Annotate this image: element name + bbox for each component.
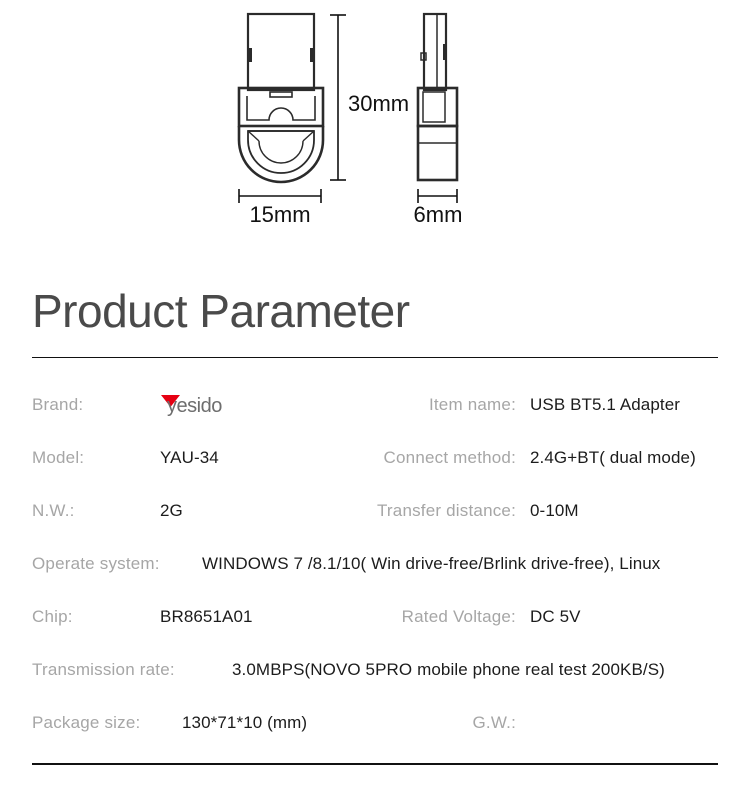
spec-value-package-size: 130*71*10 (mm) (182, 696, 307, 749)
table-row: Brand: yesido Item name: USB BT5.1 Adapt… (0, 378, 750, 431)
spec-label-text: Transmission rate: (32, 660, 175, 680)
spec-label-text: Connect method: (384, 448, 516, 468)
dimension-drawing-svg: 30mm 15mm 6mm (0, 0, 750, 240)
dimension-depth-6mm (418, 189, 457, 203)
spec-label-package-size: Package size: (32, 696, 140, 749)
dimension-width-label: 15mm (249, 202, 310, 227)
spec-value-item-name: USB BT5.1 Adapter (530, 378, 680, 431)
table-row: Chip: BR8651A01 Rated Voltage: DC 5V (0, 590, 750, 643)
table-row: Package size: 130*71*10 (mm) G.W.: (0, 696, 750, 749)
spec-value-chip: BR8651A01 (160, 590, 253, 643)
spec-label-text: Rated Voltage: (402, 607, 516, 627)
spec-label-text: Brand: (32, 395, 83, 415)
spec-label-gross-weight: G.W.: (473, 696, 517, 749)
dimension-depth-label: 6mm (414, 202, 463, 227)
spec-value-text: USB BT5.1 Adapter (530, 395, 680, 415)
page-title: Product Parameter (32, 286, 718, 337)
spec-label-text: G.W.: (473, 713, 517, 733)
product-dimension-drawing: 30mm 15mm 6mm (0, 0, 750, 240)
spec-value-text: DC 5V (530, 607, 581, 627)
spec-value-text: WINDOWS 7 /8.1/10( Win drive-free/Brlink… (202, 554, 660, 574)
spec-label-text: N.W.: (32, 501, 75, 521)
spec-label-text: Chip: (32, 607, 73, 627)
dimension-width-15mm (239, 189, 321, 203)
spec-value-rated-voltage: DC 5V (530, 590, 581, 643)
table-row: Operate system: WINDOWS 7 /8.1/10( Win d… (0, 537, 750, 590)
spec-label-brand: Brand: (32, 378, 83, 431)
spec-label-model: Model: (32, 431, 84, 484)
yesido-logo: yesido (160, 392, 264, 418)
spec-value-text: 2G (160, 501, 183, 521)
logo-wordmark: yesido (167, 395, 222, 417)
spec-label-connect-method: Connect method: (384, 431, 516, 484)
spec-label-transmission-rate: Transmission rate: (32, 643, 175, 696)
spec-label-net-weight: N.W.: (32, 484, 75, 537)
spec-label-text: Operate system: (32, 554, 160, 574)
spec-label-item-name: Item name: (429, 378, 516, 431)
spec-label-operate-system: Operate system: (32, 537, 160, 590)
usb-adapter-side-view (418, 14, 457, 180)
table-row: Model: YAU-34 Connect method: 2.4G+BT( d… (0, 431, 750, 484)
table-row: Transmission rate: 3.0MBPS(NOVO 5PRO mob… (0, 643, 750, 696)
spec-value-text: 0-10M (530, 501, 579, 521)
spec-value-transmission-rate: 3.0MBPS(NOVO 5PRO mobile phone real test… (232, 643, 665, 696)
spec-label-chip: Chip: (32, 590, 73, 643)
spec-label-text: Model: (32, 448, 84, 468)
spec-value-transfer-distance: 0-10M (530, 484, 579, 537)
spec-label-text: Transfer distance: (377, 501, 516, 521)
spec-value-text: 130*71*10 (mm) (182, 713, 307, 733)
spec-label-text: Item name: (429, 395, 516, 415)
spec-label-rated-voltage: Rated Voltage: (402, 590, 516, 643)
spec-value-text: BR8651A01 (160, 607, 253, 627)
spec-value-connect-method: 2.4G+BT( dual mode) (530, 431, 696, 484)
bottom-divider (32, 763, 718, 765)
title-divider (32, 357, 718, 358)
spec-value-text: 2.4G+BT( dual mode) (530, 448, 696, 468)
spec-value-text: 3.0MBPS(NOVO 5PRO mobile phone real test… (232, 660, 665, 680)
spec-value-operate-system: WINDOWS 7 /8.1/10( Win drive-free/Brlink… (202, 537, 660, 590)
spec-value-model: YAU-34 (160, 431, 219, 484)
spec-value-net-weight: 2G (160, 484, 183, 537)
dimension-height-30mm (330, 15, 346, 180)
spec-value-brand: yesido (160, 378, 264, 431)
yesido-logo-svg: yesido (160, 392, 264, 418)
spec-label-text: Package size: (32, 713, 140, 733)
usb-adapter-front-view (239, 14, 323, 182)
page-title-block: Product Parameter (32, 286, 718, 337)
product-parameter-table: Brand: yesido Item name: USB BT5.1 Adapt… (0, 378, 750, 749)
dimension-height-label: 30mm (348, 91, 409, 116)
table-row: N.W.: 2G Transfer distance: 0-10M (0, 484, 750, 537)
spec-label-transfer-distance: Transfer distance: (377, 484, 516, 537)
spec-value-text: YAU-34 (160, 448, 219, 468)
